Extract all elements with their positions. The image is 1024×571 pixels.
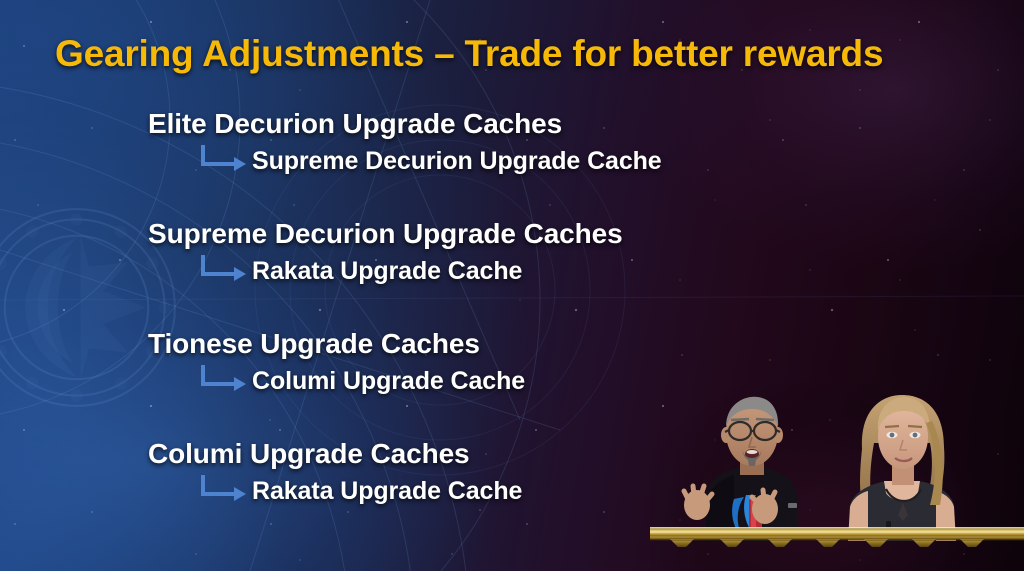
- list-group: Elite Decurion Upgrade Caches Supreme De…: [0, 108, 760, 218]
- cache-source-label: Columi Upgrade Caches: [148, 438, 470, 470]
- presentation-slide: Gearing Adjustments – Trade for better r…: [0, 0, 1024, 571]
- list-group: Tionese Upgrade Caches Columi Upgrade Ca…: [0, 328, 760, 438]
- elbow-arrow-icon: [200, 365, 248, 391]
- presenter-video-overlay: [650, 383, 1024, 571]
- cache-result-label: Supreme Decurion Upgrade Cache: [252, 148, 662, 174]
- cache-source-label: Elite Decurion Upgrade Caches: [148, 108, 562, 140]
- cache-result-row: Supreme Decurion Upgrade Cache: [200, 145, 662, 174]
- gearing-adjustments-list: Elite Decurion Upgrade Caches Supreme De…: [0, 108, 760, 548]
- cache-result-row: Rakata Upgrade Cache: [200, 475, 522, 504]
- list-group: Supreme Decurion Upgrade Caches Rakata U…: [0, 218, 760, 328]
- presenter-right-figure: [822, 389, 982, 541]
- cache-result-row: Rakata Upgrade Cache: [200, 255, 522, 284]
- list-group: Columi Upgrade Caches Rakata Upgrade Cac…: [0, 438, 760, 548]
- cache-source-label: Supreme Decurion Upgrade Caches: [148, 218, 623, 250]
- presenter-left-figure: [668, 387, 828, 541]
- elbow-arrow-icon: [200, 145, 248, 171]
- cache-result-label: Rakata Upgrade Cache: [252, 258, 522, 284]
- cache-result-label: Columi Upgrade Cache: [252, 368, 525, 394]
- gold-ornamental-bar: [650, 526, 1024, 548]
- slide-title: Gearing Adjustments – Trade for better r…: [55, 33, 883, 75]
- elbow-arrow-icon: [200, 255, 248, 281]
- cache-source-label: Tionese Upgrade Caches: [148, 328, 480, 360]
- elbow-arrow-icon: [200, 475, 248, 501]
- cache-result-row: Columi Upgrade Cache: [200, 365, 525, 394]
- cache-result-label: Rakata Upgrade Cache: [252, 478, 522, 504]
